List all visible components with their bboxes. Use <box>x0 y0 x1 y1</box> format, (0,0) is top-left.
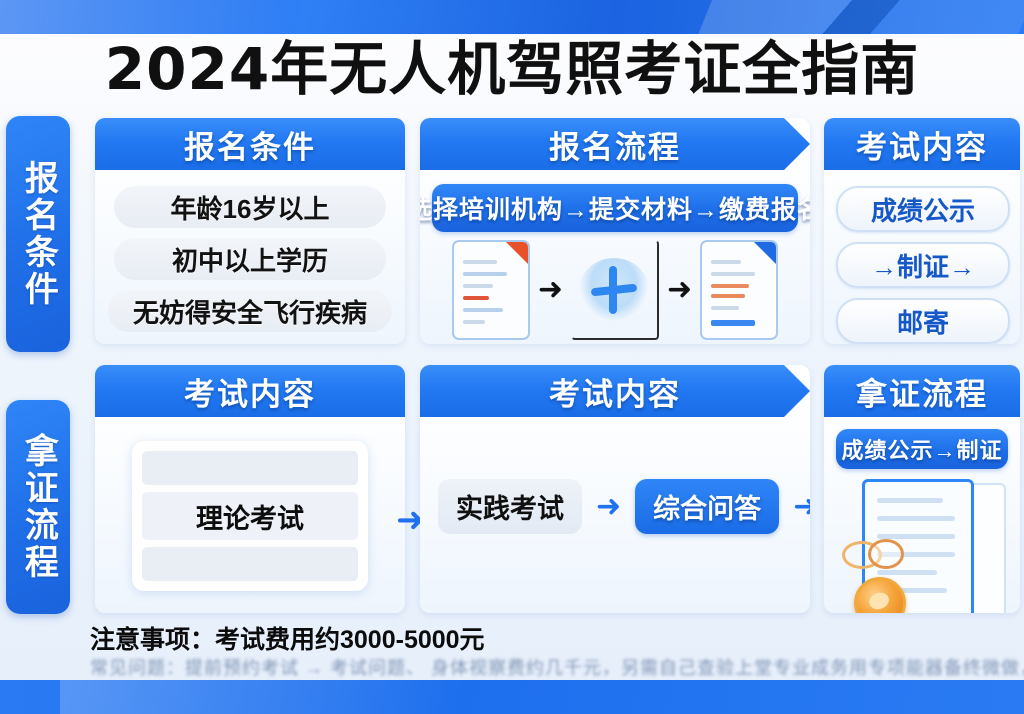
certificate-illustration <box>838 479 1006 613</box>
signup-flow-banner: 选择培训机构→提交材料→缴费报名 <box>432 184 798 232</box>
drone-icon <box>571 240 659 340</box>
bottom-decoration-band <box>0 680 1024 714</box>
exam-step-pill: 成绩公示 <box>836 186 1010 232</box>
cert-flow-banner: 成绩公示→制证 <box>836 429 1008 469</box>
exam-step-pill: →制证→ <box>836 242 1010 288</box>
card-body: 理论考试 <box>95 417 405 603</box>
footer-sub-note: 常见问题：提前预约考试 → 考试问题、 身体视察费约几千元，另需自己查验上堂专业… <box>90 654 1024 680</box>
page-fold-icon <box>506 242 528 264</box>
page-title: 2024年无人机驾照考证全指南 <box>0 22 1024 106</box>
flow-arrow-icon: ➜ <box>596 492 621 522</box>
signup-illustration: ➜ ➜ <box>432 240 798 340</box>
card-exam-content-practice[interactable]: 考试内容 实践考试 ➜ 综合问答 ➜ <box>420 365 810 613</box>
process-arrow-icon: ➜ <box>667 275 692 305</box>
condition-item: 年龄16岁以上 <box>114 186 386 228</box>
sidebar-tab-label: 拿证流程 <box>20 433 57 581</box>
panel-row <box>142 547 358 581</box>
card-header: 考试内容 <box>824 118 1020 170</box>
exam-step-pill: 邮寄 <box>836 298 1010 344</box>
card-header: 报名条件 <box>95 118 405 170</box>
practice-exam-step: 实践考试 <box>438 479 582 534</box>
card-body: 选择培训机构→提交材料→缴费报名 ➜ ➜ <box>420 170 810 344</box>
magnifier-lens-icon <box>868 539 904 569</box>
drone-shape <box>579 258 649 322</box>
card-body: 年龄16岁以上 初中以上学历 无妨得安全飞行疾病 <box>95 170 405 344</box>
card-exam-content-theory[interactable]: 考试内容 理论考试 <box>95 365 405 613</box>
card-header: 拿证流程 <box>824 365 1020 417</box>
card-body: 成绩公示 →制证→ 邮寄 <box>824 170 1020 344</box>
card-header: 考试内容 <box>95 365 405 417</box>
footer-note: 注意事项：考试费用约3000-5000元 <box>90 620 485 656</box>
card-body: 成绩公示→制证 <box>824 417 1020 613</box>
sidebar-tab-label: 报名条件 <box>20 160 57 308</box>
condition-item: 初中以上学历 <box>114 238 386 280</box>
sidebar-tab-signup-conditions[interactable]: 报名条件 <box>6 116 70 352</box>
document-icon <box>700 240 778 340</box>
condition-item: 无妨得安全飞行疾病 <box>108 290 392 332</box>
card-cert-process[interactable]: 拿证流程 成绩公示→制证 <box>824 365 1020 613</box>
process-arrow-icon: ➜ <box>538 275 563 305</box>
document-icon <box>452 240 530 340</box>
card-body: 实践考试 ➜ 综合问答 ➜ <box>420 417 810 546</box>
page-fold-icon <box>754 242 776 264</box>
flow-arrow-icon: ➜ <box>793 492 810 522</box>
card-exam-content-right[interactable]: 考试内容 成绩公示 →制证→ 邮寄 <box>824 118 1020 344</box>
theory-exam-panel: 理论考试 <box>132 441 368 591</box>
comprehensive-qa-step: 综合问答 <box>635 479 779 534</box>
card-signup-conditions[interactable]: 报名条件 年龄16岁以上 初中以上学历 无妨得安全飞行疾病 <box>95 118 405 344</box>
panel-row <box>142 451 358 485</box>
card-signup-process[interactable]: 报名流程 选择培训机构→提交材料→缴费报名 ➜ ➜ <box>420 118 810 344</box>
sidebar-tab-cert-process[interactable]: 拿证流程 <box>6 400 70 614</box>
practice-flow-row: 实践考试 ➜ 综合问答 ➜ <box>432 479 798 534</box>
bottom-band-shine <box>60 680 560 714</box>
card-header: 考试内容 <box>420 365 810 417</box>
card-header: 报名流程 <box>420 118 810 170</box>
theory-exam-label: 理论考试 <box>142 492 358 540</box>
